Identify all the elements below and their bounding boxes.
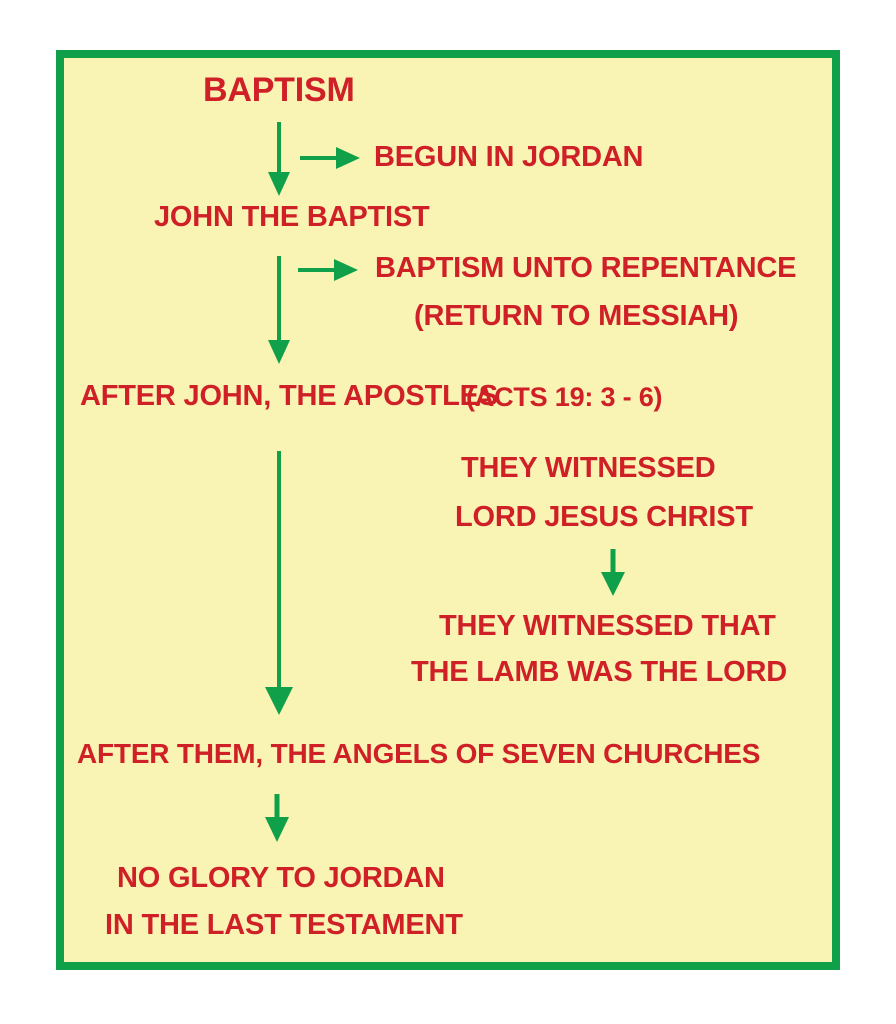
node-baptism-unto-repentance: BAPTISM UNTO REPENTANCE [375, 254, 796, 283]
node-in-the-last-testament: IN THE LAST TESTAMENT [105, 911, 463, 940]
node-return-to-messiah: (RETURN TO MESSIAH) [414, 302, 738, 331]
diagram-root: BAPTISM BEGUN IN JORDAN JOHN THE BAPTIST… [0, 0, 896, 1024]
node-acts-reference: (ACTS 19: 3 - 6) [466, 384, 662, 411]
node-begun-in-jordan: BEGUN IN JORDAN [374, 143, 643, 172]
node-baptism: BAPTISM [203, 73, 355, 107]
node-john-the-baptist: JOHN THE BAPTIST [154, 203, 430, 232]
node-the-lamb-was-the-lord: THE LAMB WAS THE LORD [411, 658, 787, 687]
node-lord-jesus-christ: LORD JESUS CHRIST [455, 503, 753, 532]
node-they-witnessed: THEY WITNESSED [461, 454, 715, 483]
node-after-them-angels: AFTER THEM, THE ANGELS OF SEVEN CHURCHES [77, 740, 760, 768]
node-no-glory-to-jordan: NO GLORY TO JORDAN [117, 864, 445, 893]
node-after-john-the-apostles: AFTER JOHN, THE APOSTLES [80, 382, 498, 411]
node-they-witnessed-that: THEY WITNESSED THAT [439, 612, 776, 641]
